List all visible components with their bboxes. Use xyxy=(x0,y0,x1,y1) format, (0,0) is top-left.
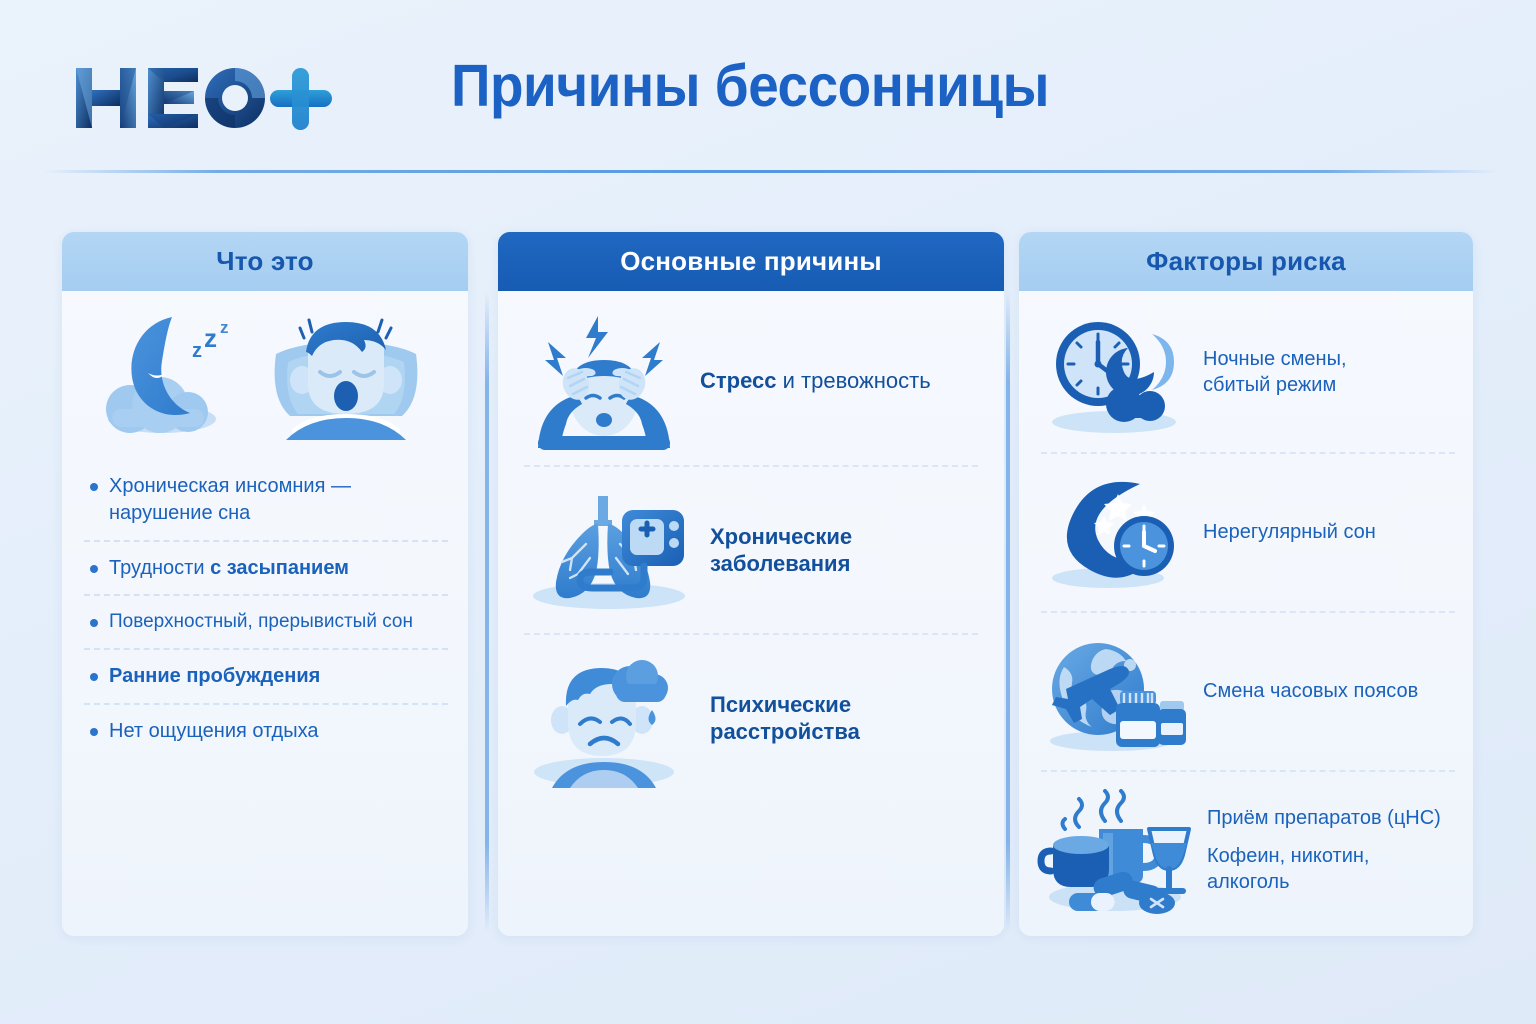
risk-text-group: Нерегулярный сон xyxy=(1203,520,1376,546)
clock-moon-cloud-icon xyxy=(1041,309,1193,437)
bullet-label: Ранние пробуждения xyxy=(109,663,320,690)
list-item: Хронические заболевания xyxy=(524,465,978,633)
moon-zzz-icon: z z z xyxy=(104,309,256,439)
list-item: Нет ощущения отдыха xyxy=(84,703,448,758)
bullet-dot-icon xyxy=(90,619,98,627)
card-accent-bar-risk-factors xyxy=(1006,292,1010,932)
list-item: Поверхностный, прерывистый сон xyxy=(84,594,448,647)
header-divider xyxy=(42,170,1500,173)
card-risk-factors: Факторы риска xyxy=(1019,232,1473,936)
card-header-what-is-it: Что это xyxy=(62,232,468,291)
list-item: Смена часовых поясов xyxy=(1041,611,1455,770)
bullet-dot-icon xyxy=(90,483,98,491)
card-header-risk-factors: Факторы риска xyxy=(1019,232,1473,291)
list-item: Ранние пробуждения xyxy=(84,648,448,703)
stressed-head-icon xyxy=(524,311,684,451)
bullet-dot-icon xyxy=(90,565,98,573)
list-item: Нерегулярный сон xyxy=(1041,452,1455,611)
columns-container: Что это z z z xyxy=(0,232,1536,944)
list-item: Стресс и тревожность xyxy=(524,297,978,465)
cause-label: Стресс и тревожность xyxy=(700,367,931,395)
risk-text-group: Ночные смены,сбитый режим xyxy=(1203,347,1347,398)
page-title: Причины бессонницы xyxy=(397,57,1104,116)
bullet-label: Хроническая инсомния — нарушение сна xyxy=(109,473,446,527)
svg-text:z: z xyxy=(220,318,229,337)
moon-stars-clock-icon xyxy=(1041,469,1193,597)
bullet-label: Трудности с засыпанием xyxy=(109,555,349,582)
what-is-it-bullet-list: Хроническая инсомния — нарушение сна Тру… xyxy=(62,456,468,757)
illustration-sleep: z z z xyxy=(62,291,468,456)
card-main-causes: Основные причины xyxy=(498,232,1004,936)
risk-label: Нерегулярный сон xyxy=(1203,520,1376,546)
page-header: Причины бессонницы xyxy=(0,0,1536,170)
svg-text:z: z xyxy=(192,340,202,362)
risk-label: Смена часовых поясов xyxy=(1203,679,1418,705)
globe-airplane-pills-icon xyxy=(1041,628,1193,756)
list-item: Хроническая инсомния — нарушение сна xyxy=(84,460,448,540)
list-item: Психические расстройства xyxy=(524,633,978,801)
svg-text:z: z xyxy=(204,323,217,353)
risk-label: Ночные смены,сбитый режим xyxy=(1203,347,1347,398)
lungs-blood-pressure-icon xyxy=(524,480,694,620)
card-accent-bar-main-causes xyxy=(485,292,489,932)
risk-label: Приём препаратов (цНС) xyxy=(1207,806,1455,832)
bullet-dot-icon xyxy=(90,673,98,681)
bullet-label: Нет ощущения отдыха xyxy=(109,718,319,745)
risk-text-group: Смена часовых поясов xyxy=(1203,679,1418,705)
risk-label: Кофеин, никотин, алкоголь xyxy=(1207,844,1455,895)
list-item: Трудности с засыпанием xyxy=(84,540,448,595)
cause-label: Психические расстройства xyxy=(710,691,978,746)
sad-face-rain-cloud-icon xyxy=(524,648,694,788)
risk-factors-list: Ночные смены,сбитый режим xyxy=(1019,291,1473,929)
list-item: Ночные смены,сбитый режим xyxy=(1041,293,1455,452)
card-what-is-it: Что это z z z xyxy=(62,232,468,936)
card-header-main-causes: Основные причины xyxy=(498,232,1004,291)
cause-label: Хронические заболевания xyxy=(710,523,978,578)
bullet-label: Поверхностный, прерывистый сон xyxy=(109,609,413,634)
risk-text-group: Приём препаратов (цНС) Кофеин, никотин, … xyxy=(1207,806,1455,896)
list-item: Приём препаратов (цНС) Кофеин, никотин, … xyxy=(1041,770,1455,929)
coffee-wine-pills-icon xyxy=(1041,787,1197,915)
main-causes-list: Стресс и тревожность xyxy=(498,291,1004,801)
brand-logo-neo-plus xyxy=(72,62,302,134)
sleeping-person-icon xyxy=(266,308,426,440)
bullet-dot-icon xyxy=(90,728,98,736)
